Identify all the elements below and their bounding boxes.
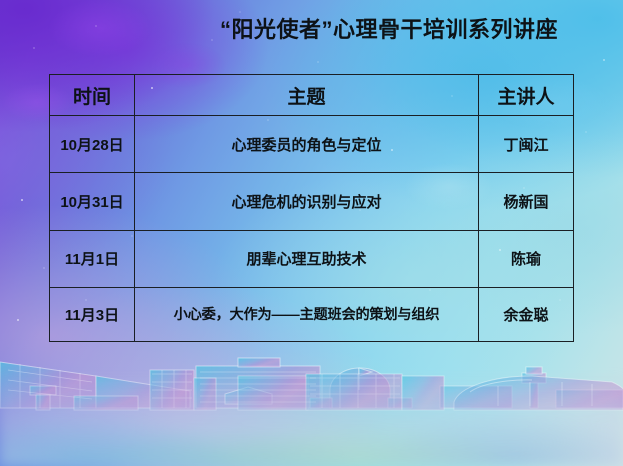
column-header-topic: 主题: [135, 75, 479, 116]
table-header-row: 时间 主题 主讲人: [50, 75, 574, 116]
cell-speaker: 杨新国: [479, 173, 574, 230]
cell-time: 11月1日: [50, 230, 135, 287]
cell-time: 10月28日: [50, 116, 135, 173]
column-header-speaker: 主讲人: [479, 75, 574, 116]
watercolor-mist-overlay: [0, 374, 623, 466]
cell-topic: 小心委，大作为——主题班会的策划与组织: [135, 287, 479, 341]
cell-time: 10月31日: [50, 173, 135, 230]
table-row: 11月3日 小心委，大作为——主题班会的策划与组织 余金聪: [50, 287, 574, 341]
cell-speaker: 陈瑜: [479, 230, 574, 287]
cell-topic: 心理危机的识别与应对: [135, 173, 479, 230]
table-row: 10月28日 心理委员的角色与定位 丁闽江: [50, 116, 574, 173]
column-header-time: 时间: [50, 75, 135, 116]
cell-time: 11月3日: [50, 287, 135, 341]
cell-speaker: 丁闽江: [479, 116, 574, 173]
city-skyline-decoration: [0, 346, 623, 466]
cell-topic: 朋辈心理互助技术: [135, 230, 479, 287]
page-title: “阳光使者”心理骨干培训系列讲座: [0, 12, 613, 44]
table-row: 10月31日 心理危机的识别与应对 杨新国: [50, 173, 574, 230]
lecture-schedule-table: 时间 主题 主讲人 10月28日 心理委员的角色与定位 丁闽江 10月31日 心…: [49, 74, 574, 342]
cell-speaker: 余金聪: [479, 287, 574, 341]
cell-topic: 心理委员的角色与定位: [135, 116, 479, 173]
table-row: 11月1日 朋辈心理互助技术 陈瑜: [50, 230, 574, 287]
